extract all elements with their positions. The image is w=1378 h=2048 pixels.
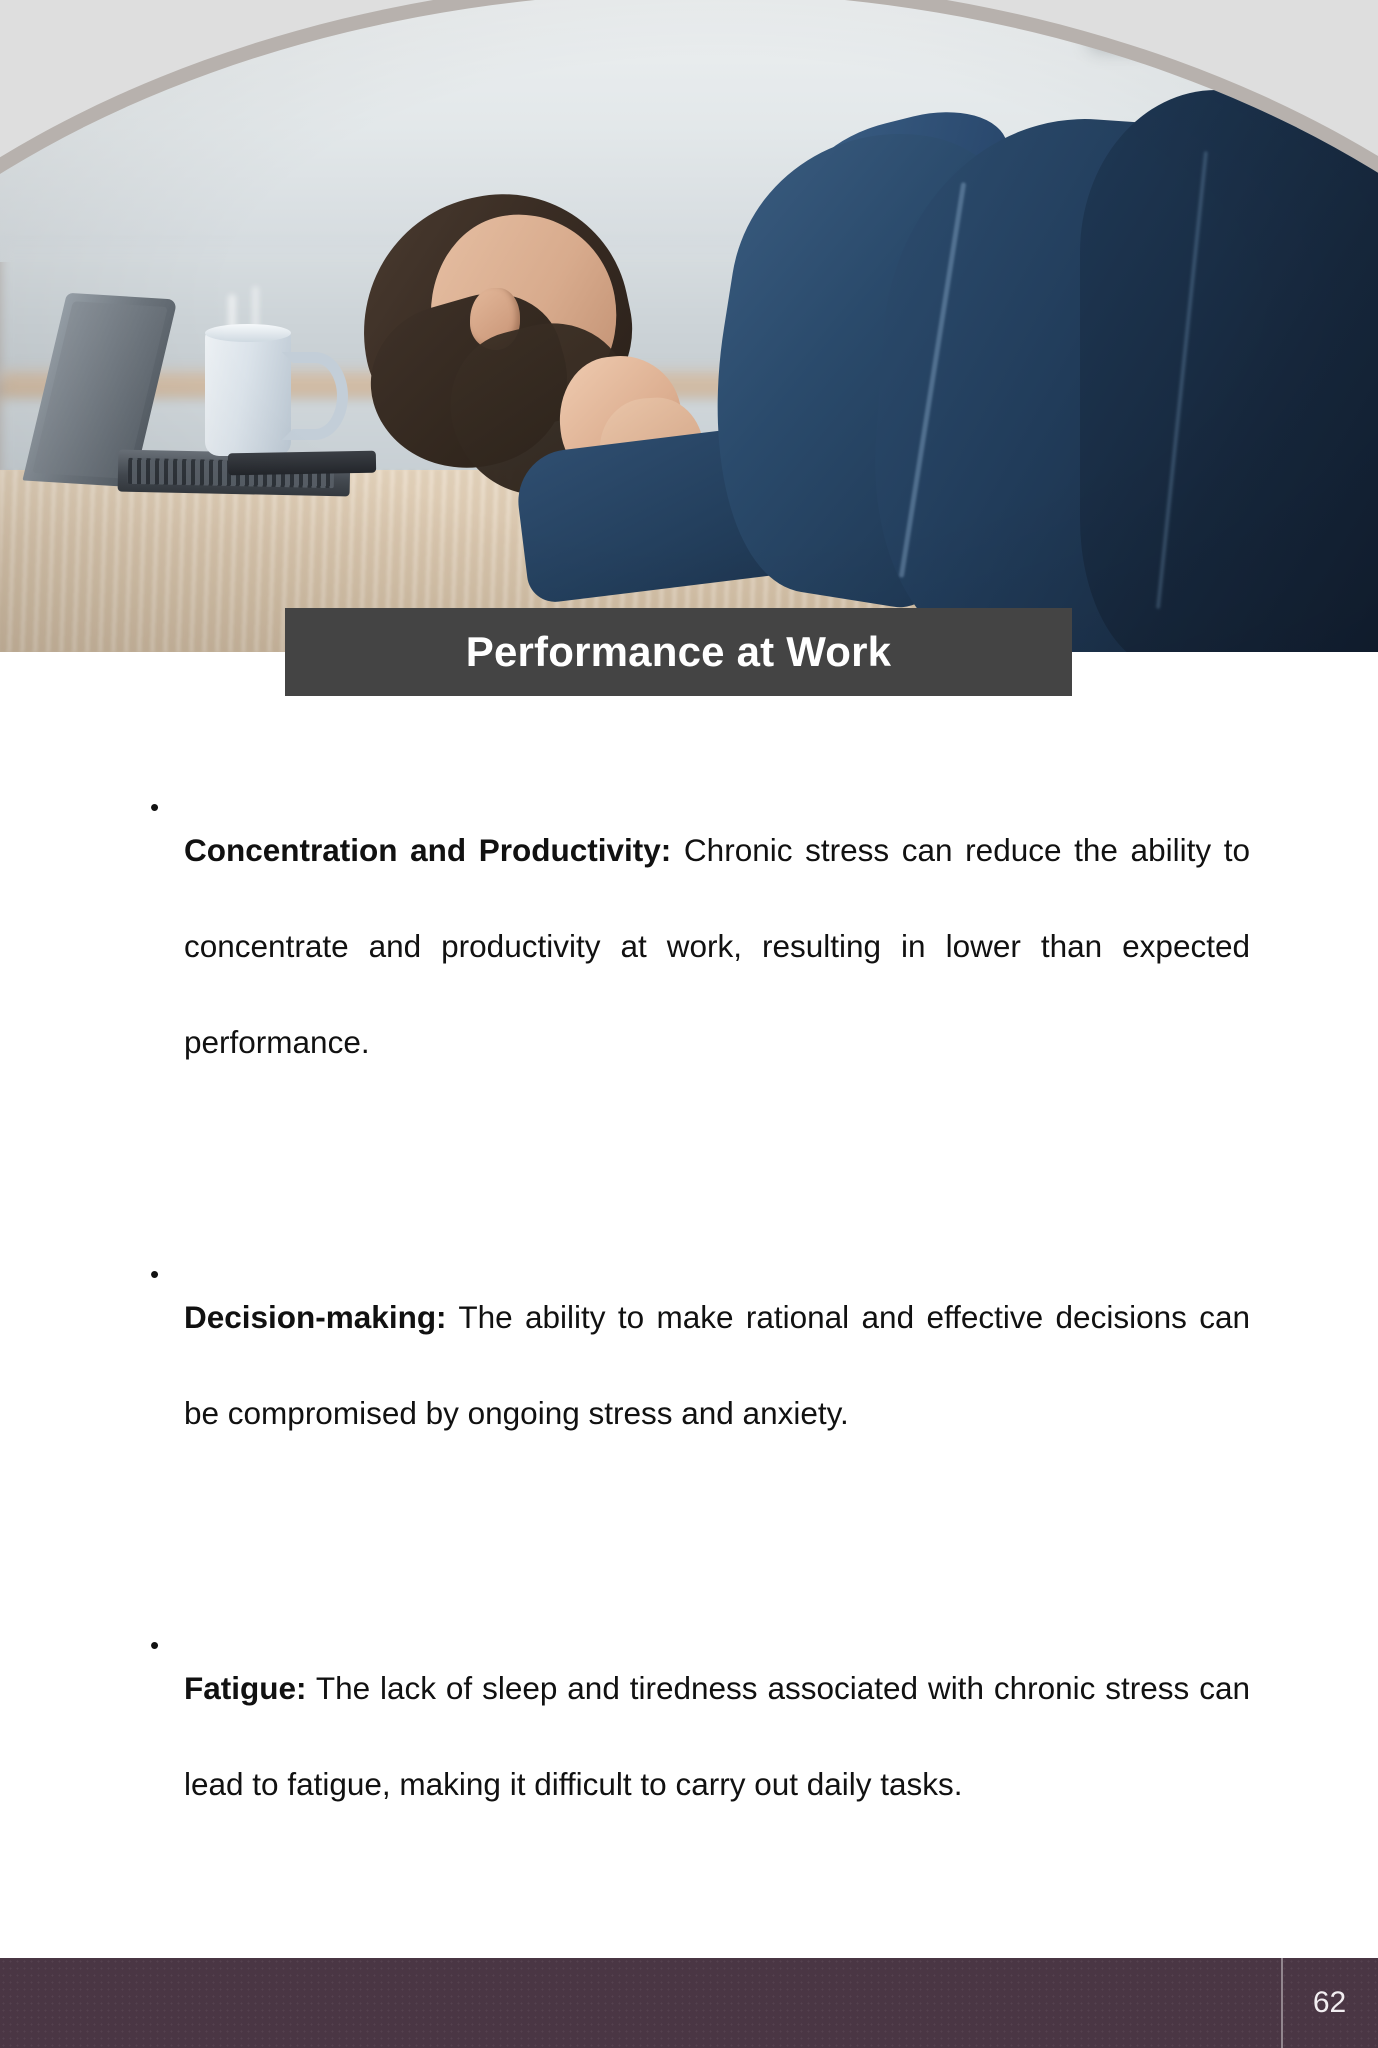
list-item-lead: Concentration and Productivity: [184, 832, 671, 868]
list-item-text: Fatigue: The lack of sleep and tiredness… [184, 1640, 1250, 1832]
slide-root: Performance at Work • Concentration and … [0, 0, 1378, 2048]
page-title: Performance at Work [466, 628, 892, 676]
slide-footer: 62 [0, 1958, 1378, 2048]
list-item: • Fatigue: The lack of sleep and tiredne… [150, 1608, 1250, 1863]
photo-cabinet-hardware-icon [1090, 14, 1146, 50]
hero-image [0, 0, 1378, 652]
list-item-text: Decision-making: The ability to make rat… [184, 1269, 1250, 1461]
photo-man-back-denim [1080, 90, 1378, 652]
page-number: 62 [1281, 1958, 1378, 2048]
hero-photo-ellipse-clip [0, 0, 1378, 652]
hero-photo [0, 0, 1378, 652]
bullet-list: • Concentration and Productivity: Chroni… [150, 770, 1250, 1863]
photo-coffee-mug [205, 328, 291, 456]
bullet-marker-icon: • [150, 770, 184, 820]
list-item: • Concentration and Productivity: Chroni… [150, 770, 1250, 1121]
photo-wood-post-icon [1188, 2, 1210, 68]
photo-mug-handle [282, 352, 348, 440]
list-item-text: Concentration and Productivity: Chronic … [184, 802, 1250, 1090]
list-item-body: The lack of sleep and tiredness associat… [184, 1670, 1250, 1802]
slide-title-banner: Performance at Work [285, 608, 1072, 696]
bullet-marker-icon: • [150, 1608, 184, 1658]
list-item-lead: Decision-making: [184, 1299, 447, 1335]
photo-mug-rim [205, 324, 291, 342]
bullet-marker-icon: • [150, 1237, 184, 1287]
list-item-lead: Fatigue: [184, 1670, 307, 1706]
list-item: • Decision-making: The ability to make r… [150, 1237, 1250, 1492]
photo-smartphone [228, 451, 376, 476]
